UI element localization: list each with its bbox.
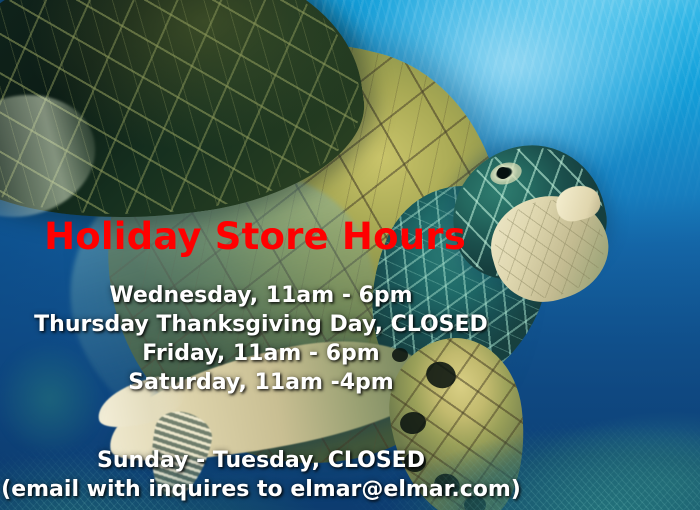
hours-line-wednesday: Wednesday, 11am - 6pm [0,281,522,310]
closed-notice: Sunday - Tuesday, CLOSED (email with inq… [0,446,522,504]
hours-line-friday: Friday, 11am - 6pm [0,339,522,368]
text-overlay: Holiday Store Hours Wednesday, 11am - 6p… [0,0,700,510]
page-title: Holiday Store Hours [0,218,510,255]
hours-line-saturday: Saturday, 11am -4pm [0,368,522,397]
hours-line-thursday: Thursday Thanksgiving Day, CLOSED [0,310,522,339]
holiday-hours-poster: Holiday Store Hours Wednesday, 11am - 6p… [0,0,700,510]
store-hours-list: Wednesday, 11am - 6pm Thursday Thanksgiv… [0,281,522,397]
closed-line-email: (email with inquires to elmar@elmar.com) [0,475,522,504]
closed-line-sunday-tuesday: Sunday - Tuesday, CLOSED [0,446,522,475]
